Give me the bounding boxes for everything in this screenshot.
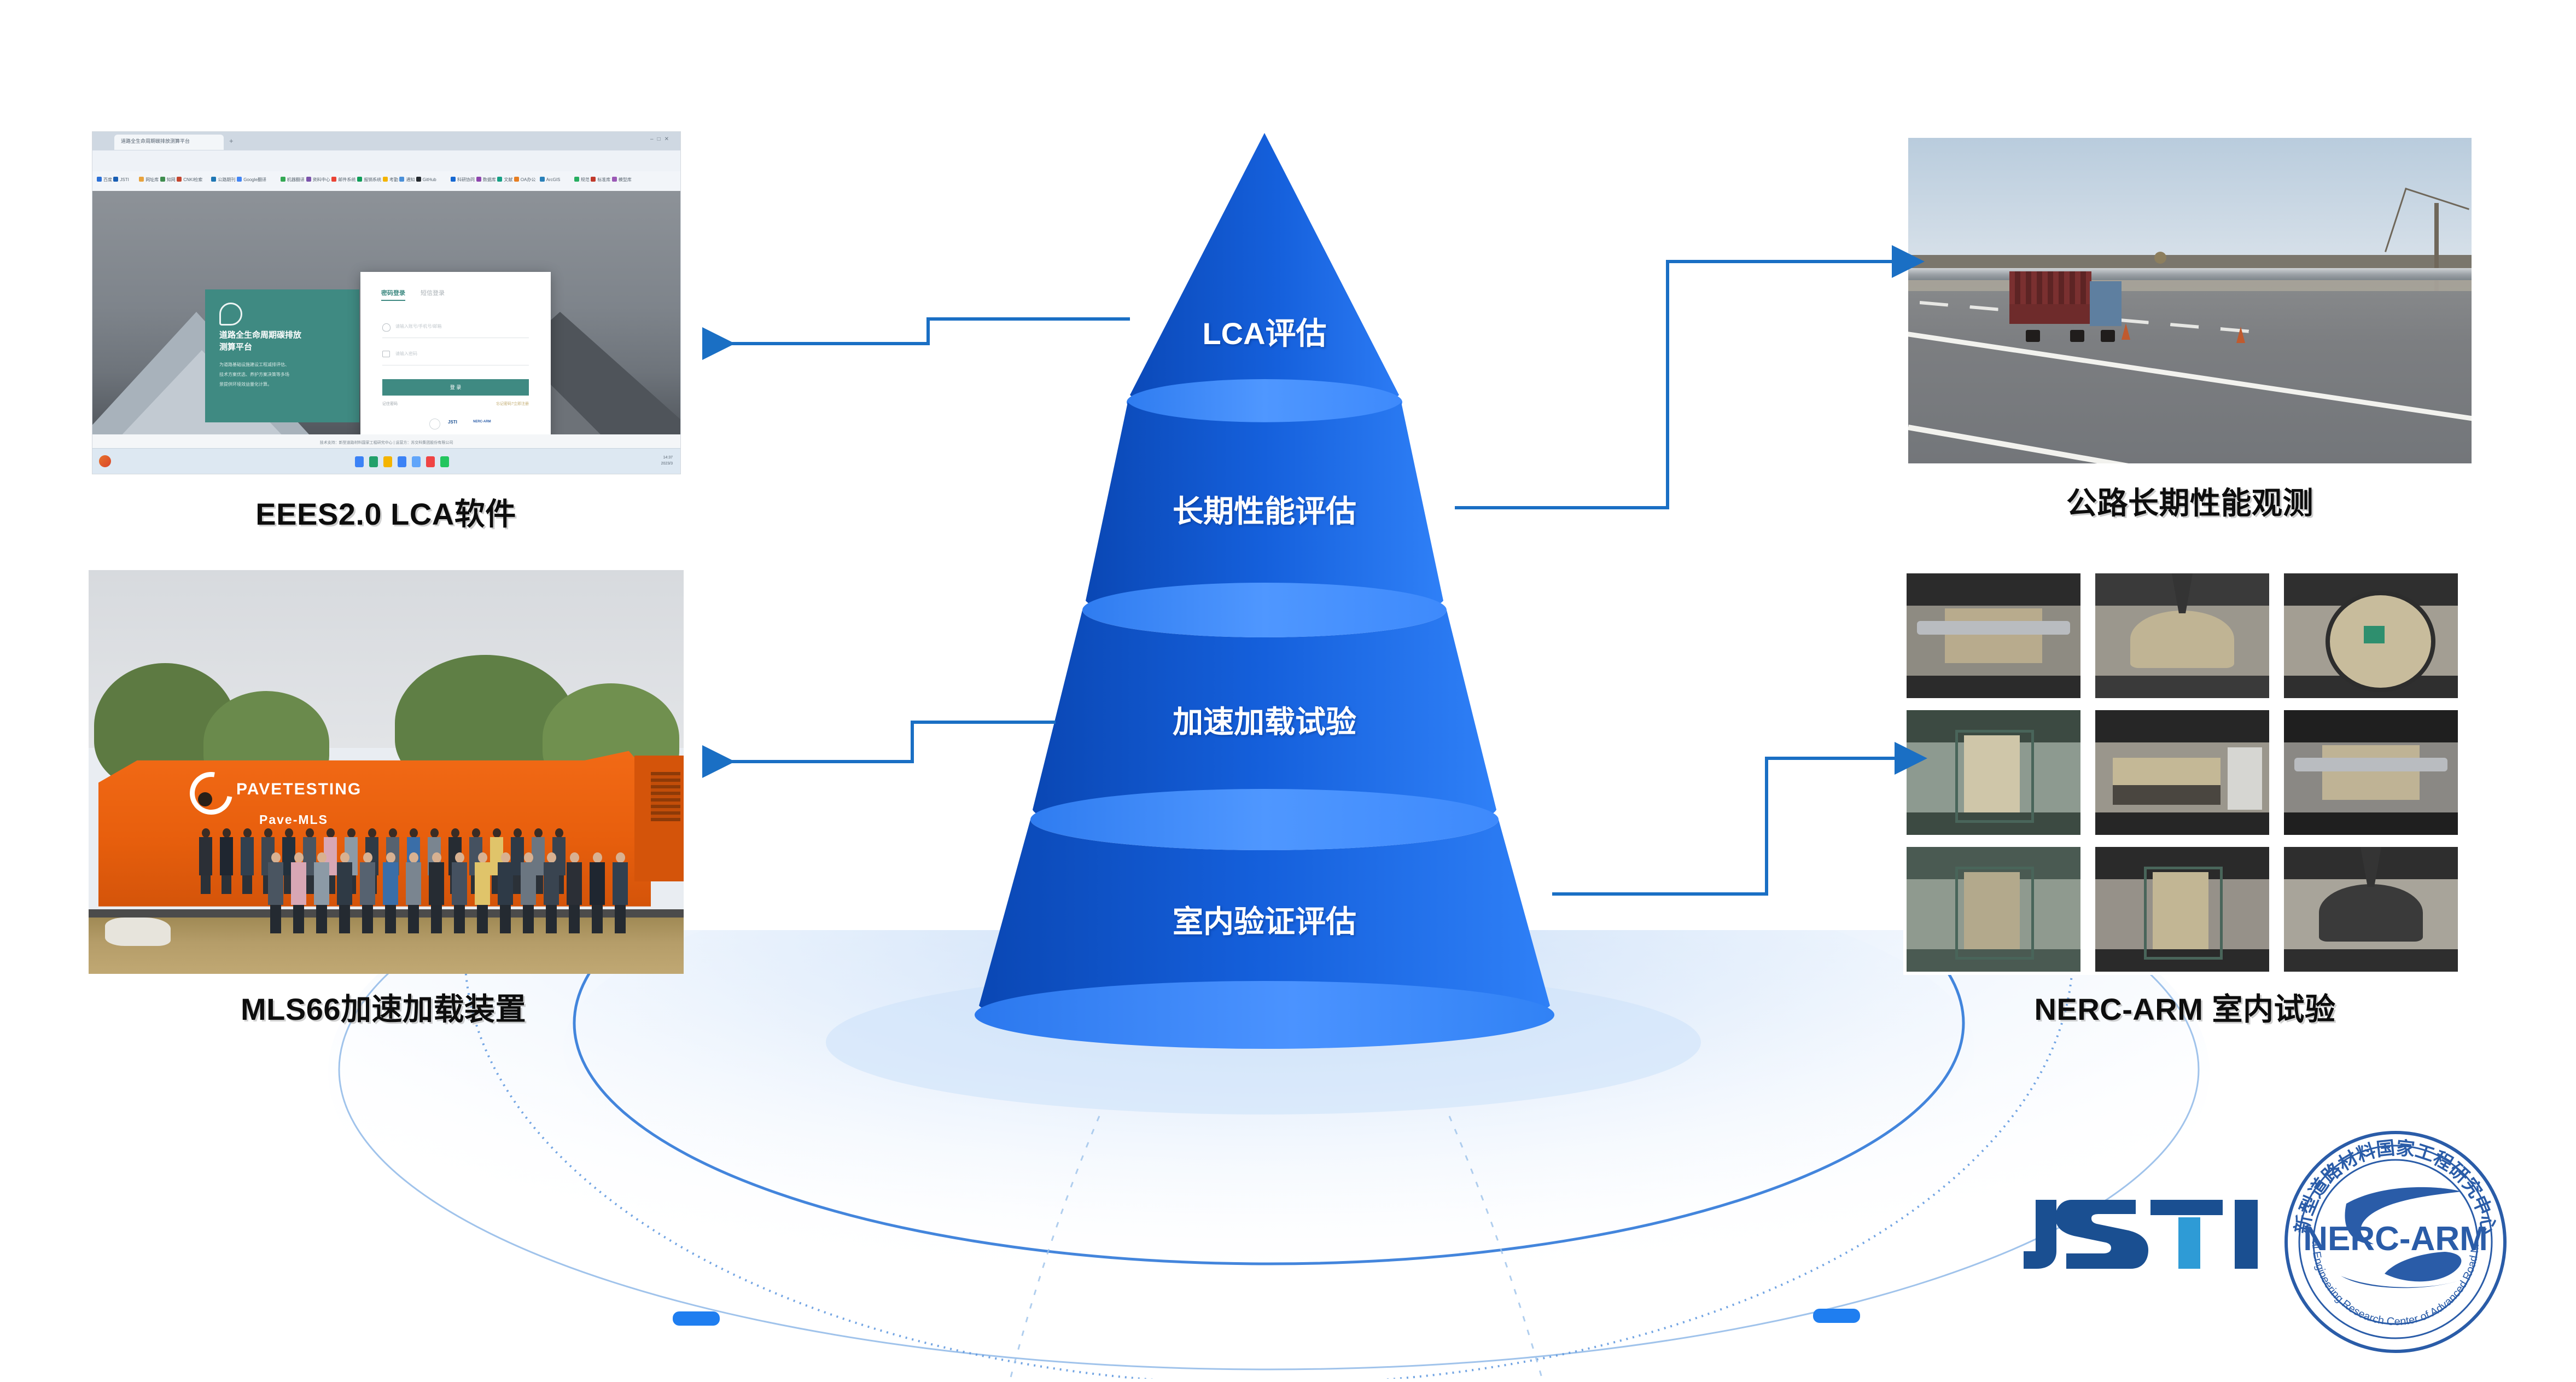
- guardrail: [1908, 268, 2472, 280]
- person-legs: [523, 905, 534, 933]
- login-tab-sms[interactable]: 短信登录: [421, 288, 445, 297]
- lab-test-photo: [1907, 710, 2080, 835]
- bookmark-label: 科研协同: [457, 177, 475, 182]
- panel-nercarm-lab-grid: [1903, 570, 2472, 975]
- confining-cell: [2144, 867, 2223, 960]
- bookmark-item[interactable]: CNKI检索: [177, 177, 202, 183]
- person-body: [291, 862, 306, 905]
- person-body: [360, 862, 375, 905]
- bookmark-item[interactable]: JSTI: [113, 177, 129, 182]
- test-rig-base: [1907, 676, 2080, 698]
- person-legs: [362, 905, 373, 933]
- bookmark-label: 文献: [504, 177, 512, 182]
- remember-password-label[interactable]: 记住密码: [382, 401, 398, 407]
- bookmark-label: 公路期刊: [218, 177, 235, 182]
- bookmark-label: GitHub: [423, 177, 436, 182]
- tier-label-indoor: 室内验证评估: [1073, 897, 1456, 942]
- person-head: [317, 852, 327, 863]
- person-body: [498, 862, 513, 905]
- person: [266, 852, 285, 934]
- person-head: [285, 828, 293, 838]
- person: [427, 852, 446, 934]
- bookmark-item[interactable]: 报销系统: [357, 177, 381, 183]
- person-head: [547, 852, 556, 863]
- nerc-arm-logo: 新型道路材料国家工程研究中心 National Engineering Rese…: [2281, 1127, 2510, 1360]
- truck-wheel-3: [2101, 330, 2115, 342]
- person-body: [452, 862, 467, 905]
- person: [542, 852, 561, 934]
- specimen-base-layer: [2113, 785, 2221, 805]
- person: [381, 852, 400, 934]
- person-body: [406, 862, 421, 905]
- person-legs: [242, 875, 252, 894]
- page-footer-text: 技术支持：新型道路材料国家工程研究中心 | 运营方：苏交科集团股份有限公司: [92, 440, 680, 445]
- start-icon[interactable]: [99, 455, 111, 467]
- truck-wheel-1: [2026, 330, 2040, 342]
- lab-test-photo: [2095, 573, 2269, 698]
- taskbar-icon-1[interactable]: [355, 456, 364, 467]
- person-head: [478, 852, 487, 863]
- person-head: [501, 852, 510, 863]
- person-head: [202, 828, 210, 838]
- truck-cargo-slats: [2009, 271, 2091, 304]
- bookmark-item[interactable]: 邮件系统: [331, 177, 355, 183]
- lab-test-photo: [1907, 847, 2080, 972]
- tractor-grille: [651, 772, 680, 821]
- bookmark-item[interactable]: OA办公: [514, 177, 536, 183]
- specimen: [1945, 608, 2042, 663]
- person: [473, 852, 492, 934]
- bookmark-item[interactable]: Google翻译: [237, 177, 266, 183]
- person-head: [409, 852, 418, 863]
- person-head: [524, 852, 533, 863]
- arrow-indoor-to-nercarm: [1552, 758, 1898, 894]
- truck-cab: [2090, 281, 2122, 326]
- bookmark-item[interactable]: 规范: [574, 177, 590, 183]
- arrow-lca-to-eees: [706, 319, 1130, 344]
- person-body: [383, 862, 398, 905]
- bookmark-item[interactable]: 标准库: [591, 177, 610, 183]
- lab-test-photo: [2095, 710, 2269, 835]
- nerc-acronym-text: NERC-ARM: [2303, 1220, 2488, 1258]
- person-head: [432, 852, 441, 863]
- person-legs: [316, 905, 327, 933]
- person-body: [268, 862, 283, 905]
- person-body: [590, 862, 605, 905]
- bookmark-item[interactable]: 文献: [497, 177, 512, 183]
- password-placeholder: 请输入密码: [395, 351, 417, 357]
- person-body: [314, 862, 329, 905]
- partner-logo-1: [429, 419, 440, 429]
- machine-brand-text: PAVETESTING: [236, 780, 362, 799]
- person-legs: [454, 905, 465, 933]
- page-hero: 道路全生命周期碳排放 测算平台 为道路基础设施建设工程减排评估、 技术方案优选、…: [92, 191, 680, 449]
- leaf-logo-icon: [219, 303, 242, 326]
- bookmark-label: 通知: [406, 177, 415, 182]
- person-legs: [293, 905, 304, 933]
- platform-info-card: 道路全生命周期碳排放 测算平台 为道路基础设施建设工程减排评估、 技术方案优选、…: [205, 289, 359, 422]
- test-rig-base: [2095, 812, 2269, 835]
- bookmark-label: Google翻译: [243, 177, 266, 182]
- test-rig-base: [2284, 812, 2458, 835]
- person-legs: [592, 905, 603, 933]
- person-legs: [270, 905, 281, 933]
- partner-logo-jsti: JSTI: [448, 420, 457, 425]
- bookmark-item[interactable]: 网址库: [139, 177, 159, 183]
- person-body: [429, 862, 444, 905]
- nerc-arm-logo-svg: 新型道路材料国家工程研究中心 National Engineering Rese…: [2281, 1127, 2510, 1357]
- person-body: [613, 862, 628, 905]
- browser-tab-strip: 道路全生命周期碳排放测算平台 + –□✕: [92, 132, 680, 150]
- specimen: [2319, 884, 2423, 942]
- caption-highway: 公路长期性能观测: [1908, 479, 2472, 523]
- person-head: [451, 828, 459, 838]
- bookmark-label: 知网: [167, 177, 176, 182]
- lab-test-photo: [1907, 573, 2080, 698]
- username-placeholder: 请输入账号/手机号/邮箱: [395, 323, 441, 329]
- person-body: [567, 862, 582, 905]
- traffic-cone-1: [2122, 323, 2130, 340]
- arrow-accelerated-to-mls66: [706, 722, 1056, 762]
- platform-title-line2: 测算平台: [219, 342, 252, 353]
- window-controls[interactable]: –□✕: [650, 136, 673, 142]
- bookmark-label: 数据库: [483, 177, 496, 182]
- login-card: 密码登录 短信登录 请输入账号/手机号/邮箱 请输入密码 登 录 记住密码 忘记…: [360, 272, 551, 440]
- bookmark-label: ArcGIS: [546, 177, 561, 182]
- person-head: [472, 828, 480, 838]
- bookmark-item[interactable]: 模型库: [612, 177, 632, 183]
- tier-label-longterm: 长期性能评估: [1073, 487, 1456, 531]
- bookmark-item[interactable]: 机器翻译: [281, 177, 305, 183]
- person-head: [514, 828, 522, 838]
- person: [519, 852, 538, 934]
- specimen: [2130, 611, 2235, 668]
- person-head: [264, 828, 272, 838]
- slide-canvas: LCA评估 长期性能评估 加速加载试验 室内验证评估: [0, 0, 2576, 1382]
- login-submit-label: 登 录: [382, 384, 529, 391]
- platform-desc-line3: 景提供环境效益量化计算。: [219, 381, 272, 388]
- person: [335, 852, 354, 934]
- bookmark-label: 模型库: [619, 177, 632, 182]
- person-legs: [546, 905, 557, 933]
- test-rig-base: [2095, 676, 2269, 698]
- person: [197, 828, 214, 894]
- bookmark-label: 考勤: [389, 177, 398, 182]
- bookmark-item[interactable]: 科研协同: [451, 177, 475, 183]
- person-body: [241, 837, 254, 875]
- person-head: [306, 828, 314, 838]
- person: [611, 852, 630, 934]
- caption-mls66: MLS66加速加载装置: [83, 985, 684, 1029]
- panel-eees-screenshot: 道路全生命周期碳排放测算平台 + –□✕ ← ⟳ 不安全 | computer-…: [92, 131, 681, 474]
- person-head: [386, 852, 395, 863]
- person-head: [593, 852, 602, 863]
- taskbar-icon-2[interactable]: [369, 456, 378, 467]
- person-legs: [431, 905, 442, 933]
- bookmark-label: 资料中心: [313, 177, 330, 182]
- loading-piston: [1917, 621, 2070, 635]
- person-legs: [615, 905, 626, 933]
- person-head: [368, 828, 376, 838]
- person-head: [570, 852, 579, 863]
- bookmark-item[interactable]: ArcGIS: [540, 177, 561, 182]
- bookmark-label: 百度: [103, 177, 112, 182]
- person: [496, 852, 515, 934]
- pyramid-tier-lca: [1130, 133, 1399, 415]
- person: [404, 852, 423, 934]
- jsti-logo: [2024, 1190, 2259, 1283]
- person-legs: [408, 905, 419, 933]
- platform-title-line1: 道路全生命周期碳排放: [219, 330, 301, 341]
- lab-test-photo: [2284, 847, 2458, 972]
- tier-label-accelerated: 加速加载试验: [1073, 698, 1456, 742]
- specimen: [2113, 758, 2221, 785]
- jsti-logo-svg: [2024, 1190, 2259, 1280]
- person-legs: [500, 905, 511, 933]
- platform-desc-line1: 为道路基础设施建设工程减排评估、: [219, 362, 289, 368]
- person-body: [220, 837, 233, 875]
- bookmark-label: 邮件系统: [338, 177, 355, 182]
- taskbar-icon-3[interactable]: [383, 456, 392, 467]
- confining-cell: [1955, 730, 2034, 823]
- person-head: [410, 828, 418, 838]
- traffic-cone-2: [2236, 327, 2245, 343]
- person: [358, 852, 377, 934]
- people-group: [195, 821, 578, 947]
- taskbar-icon-4[interactable]: [398, 456, 406, 467]
- person-head: [363, 852, 372, 863]
- caption-eees: EEES2.0 LCA软件: [92, 490, 680, 534]
- loading-piston: [2294, 758, 2447, 771]
- lab-test-photo: [2284, 710, 2458, 835]
- panel-mls66-photo: PAVETESTING Pave-MLS: [89, 570, 684, 974]
- partner-logo-nerc: NERC-ARM: [473, 420, 491, 423]
- bookmark-item[interactable]: 数据库: [476, 177, 496, 183]
- panel-highway-photo: [1908, 138, 2472, 463]
- person-legs: [569, 905, 580, 933]
- person: [565, 852, 584, 934]
- person-legs: [339, 905, 350, 933]
- bookmark-label: 网址库: [145, 177, 159, 182]
- person: [450, 852, 469, 934]
- bookmark-item[interactable]: 百度: [97, 177, 112, 183]
- person-body: [475, 862, 490, 905]
- lab-test-photo: [2095, 847, 2269, 972]
- bookmark-item[interactable]: 考勤: [383, 177, 398, 183]
- person-head: [223, 828, 231, 838]
- caption-nercarm: NERC-ARM 室内试验: [1898, 985, 2472, 1029]
- person-head: [340, 852, 349, 863]
- new-tab-icon[interactable]: +: [229, 137, 234, 145]
- test-rig-base: [2284, 949, 2458, 972]
- os-taskbar: 14:372023/3: [92, 448, 680, 474]
- bookmark-label: OA办公: [521, 177, 536, 182]
- bookmark-item[interactable]: 资料中心: [306, 177, 330, 183]
- bookmark-item[interactable]: 通知: [399, 177, 415, 183]
- person-head: [271, 852, 281, 863]
- truck-wheel-2: [2070, 330, 2084, 342]
- login-tab-password[interactable]: 密码登录: [381, 288, 405, 301]
- person-head: [347, 828, 355, 838]
- pavetesting-logo-dot: [198, 792, 212, 806]
- person-body: [337, 862, 352, 905]
- arrow-longterm-to-highway: [1455, 262, 1895, 508]
- person-head: [389, 828, 397, 838]
- person: [218, 828, 235, 894]
- person: [289, 852, 308, 934]
- person-legs: [477, 905, 488, 933]
- person-body: [199, 837, 212, 875]
- bookmark-label: 标准库: [597, 177, 610, 182]
- person-head: [243, 828, 252, 838]
- person-legs: [222, 875, 231, 894]
- person-body: [544, 862, 559, 905]
- test-rig: [1907, 573, 2080, 606]
- specimen: [2322, 745, 2420, 800]
- person-head: [455, 852, 464, 863]
- confining-cell: [1955, 867, 2034, 960]
- loading-frame: [2228, 747, 2263, 810]
- person: [312, 852, 331, 934]
- person-legs: [201, 875, 211, 894]
- bookmark-item[interactable]: GitHub: [416, 177, 436, 182]
- person: [588, 852, 607, 934]
- person-head: [493, 828, 501, 838]
- forgot-password-link[interactable]: 忘记密码?立即注册: [496, 401, 529, 407]
- bookmark-item[interactable]: 知网: [160, 177, 176, 183]
- taskbar-icon-5[interactable]: [412, 456, 421, 467]
- person: [239, 828, 255, 894]
- test-rig: [2095, 710, 2269, 742]
- tier-label-lca: LCA评估: [1128, 309, 1401, 353]
- bookmark-label: 机器翻译: [287, 177, 305, 182]
- person-head: [555, 828, 563, 838]
- bookmark-label: 报销系统: [364, 177, 381, 182]
- white-sack: [105, 918, 171, 946]
- person-head: [294, 852, 304, 863]
- test-rig: [2284, 710, 2458, 742]
- person-legs: [385, 905, 396, 933]
- bookmark-label: JSTI: [120, 177, 129, 182]
- platform-desc-line2: 技术方案优选、养护方案决策等多场: [219, 371, 289, 378]
- person-body: [521, 862, 536, 905]
- bookmark-item[interactable]: 公路期刊: [211, 177, 235, 183]
- bookmark-label: 规范: [581, 177, 590, 182]
- sensor: [2364, 626, 2385, 643]
- browser-url-row: ← ⟳ 不安全 | computer-energy.jsti-smart.cn/…: [92, 150, 680, 171]
- browser-tab-title: 道路全生命周期碳排放测算平台: [121, 137, 217, 144]
- lab-test-photo: [2284, 573, 2458, 698]
- person-head: [534, 828, 543, 838]
- bookmark-label: CNKI检索: [183, 177, 202, 182]
- person-head: [327, 828, 335, 838]
- taskbar-icon-7[interactable]: [440, 456, 449, 467]
- taskbar-icon-6[interactable]: [426, 456, 435, 467]
- person-head: [616, 852, 625, 863]
- taskbar-clock: 14:372023/3: [661, 455, 673, 467]
- person-head: [430, 828, 439, 838]
